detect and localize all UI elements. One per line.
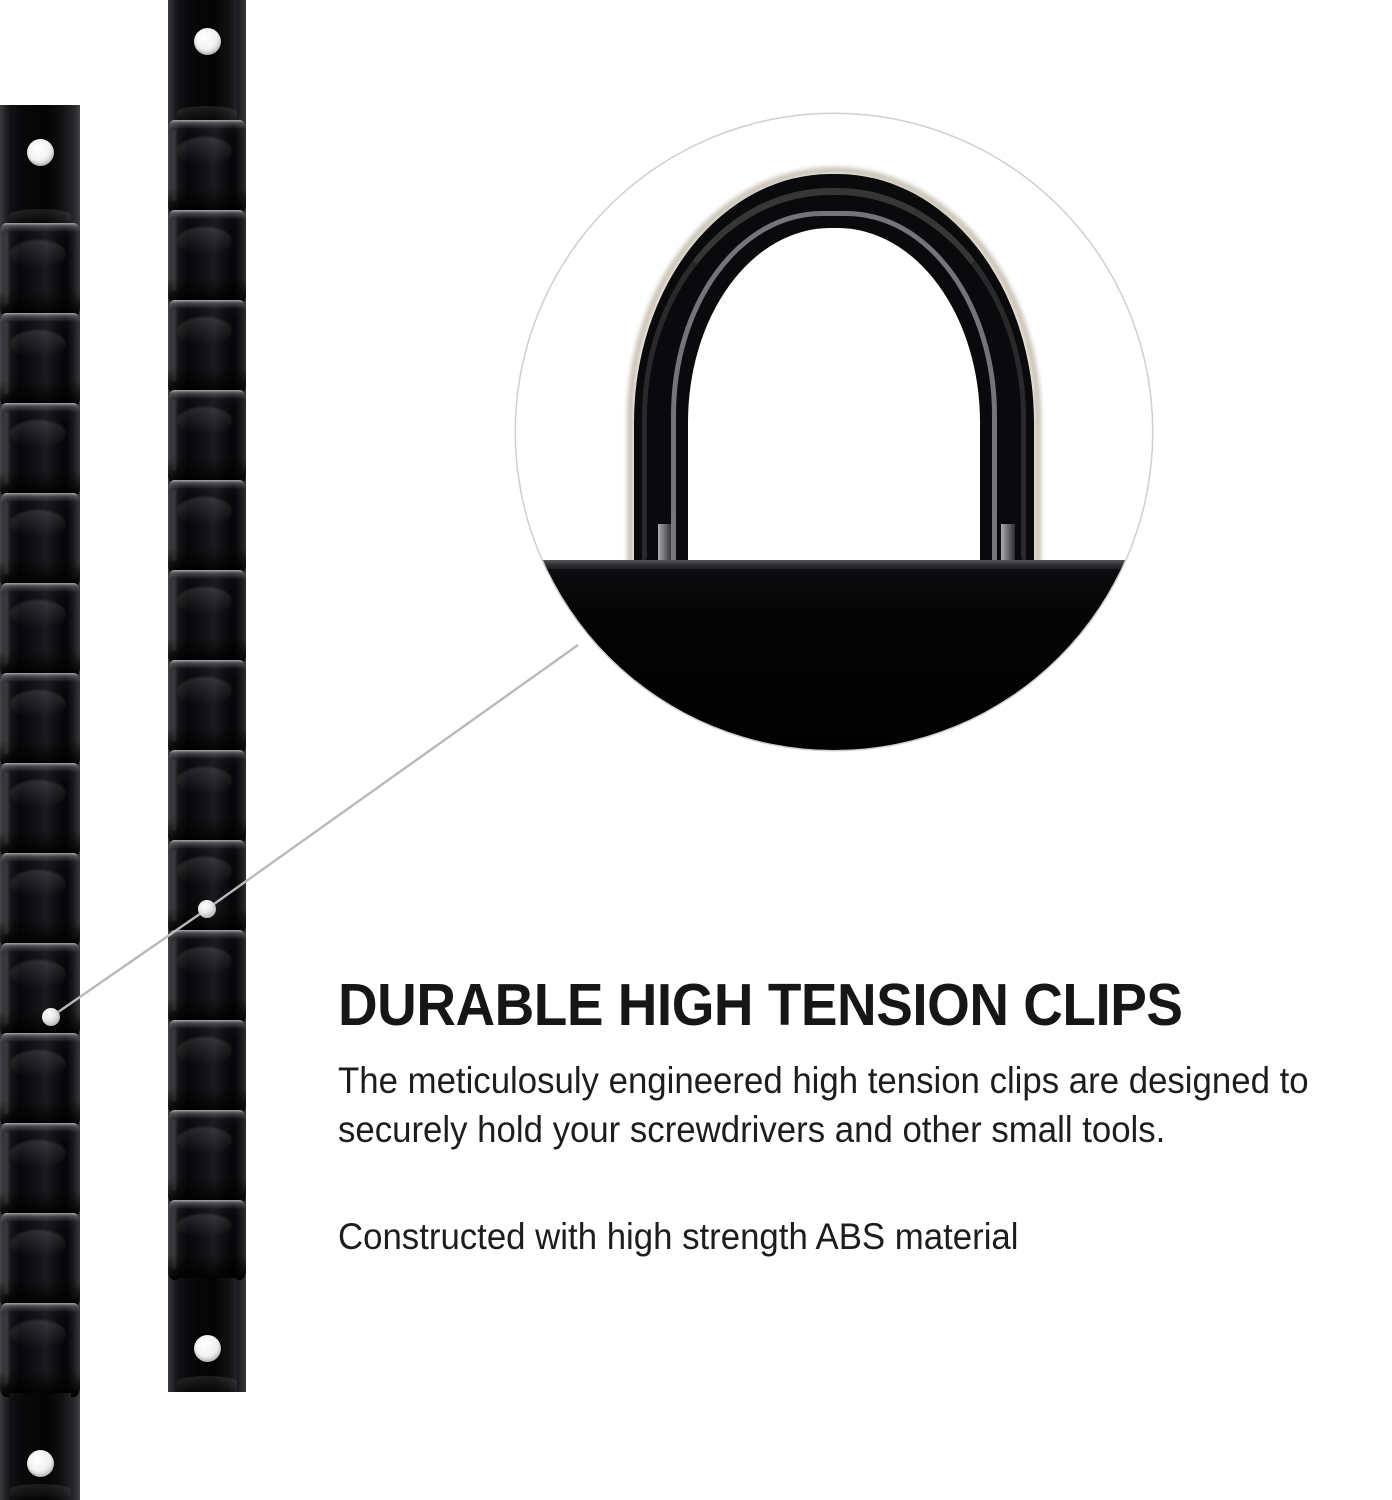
clip-gloss <box>177 947 232 975</box>
clip-edge-gloss <box>173 129 178 200</box>
feature-description: The meticulosuly engineered high tension… <box>338 1057 1377 1155</box>
clip <box>168 1020 246 1114</box>
clip <box>168 300 246 394</box>
clip-edge-gloss <box>5 592 10 663</box>
product-rail-right <box>168 0 246 1392</box>
clip <box>168 660 246 754</box>
clip-edge-gloss <box>5 1042 10 1113</box>
mounting-tab-bottom <box>9 1393 71 1500</box>
clip-edge-gloss <box>5 502 10 573</box>
clip-gloss <box>177 137 232 165</box>
mounting-hole-top <box>194 28 221 55</box>
product-rail-left <box>0 105 80 1500</box>
clip-edge-gloss <box>173 669 178 740</box>
clip <box>168 1200 246 1280</box>
callout-dot-left-rail <box>42 1008 60 1026</box>
clip-gloss <box>177 767 232 795</box>
clip <box>0 763 80 857</box>
clip-edge-gloss <box>5 1222 10 1293</box>
clip-edge-gloss <box>173 1029 178 1100</box>
clip <box>0 313 80 407</box>
clip-gloss <box>177 1037 232 1065</box>
clip <box>0 583 80 677</box>
clip-edge-gloss <box>173 399 178 470</box>
clip <box>168 390 246 484</box>
clip-gloss <box>10 330 66 358</box>
clip-edge-gloss <box>5 952 10 1023</box>
clip-gloss <box>10 1320 66 1348</box>
clip-gloss <box>10 420 66 448</box>
clip-edge-gloss <box>173 489 178 560</box>
clip-edge-gloss <box>173 849 178 920</box>
clip <box>168 570 246 664</box>
mounting-hole-bottom <box>194 1335 221 1362</box>
clip <box>0 673 80 767</box>
clip-gloss <box>177 1214 232 1238</box>
clip-edge-gloss <box>5 232 10 303</box>
clip-edge-gloss <box>5 772 10 843</box>
clip-gloss <box>10 240 66 268</box>
clip-gloss <box>10 600 66 628</box>
callout-dot-right-rail <box>198 900 216 918</box>
clip-gloss <box>177 1127 232 1155</box>
clip-edge-gloss <box>5 1132 10 1203</box>
clip <box>168 1110 246 1204</box>
clip-gloss <box>10 1050 66 1078</box>
clip-edge-gloss <box>5 412 10 483</box>
clip-edge-gloss <box>173 1208 178 1269</box>
rail-base-plate <box>516 569 1152 750</box>
mounting-tab-top <box>177 0 237 122</box>
clip-gloss <box>10 1140 66 1168</box>
clip-edge-gloss <box>173 939 178 1010</box>
mounting-hole-top <box>27 139 54 166</box>
clip <box>168 930 246 1024</box>
clip-gloss <box>10 510 66 538</box>
clip-gloss <box>177 857 232 885</box>
clip-edge-gloss <box>173 309 178 380</box>
clip-gloss <box>177 407 232 435</box>
clip-edge-gloss <box>5 322 10 393</box>
clip <box>0 1213 80 1307</box>
magnifier-contents <box>516 114 1152 750</box>
clip <box>0 853 80 947</box>
mounting-hole-bottom <box>27 1450 54 1477</box>
detail-magnifier <box>516 114 1152 750</box>
clip <box>168 840 246 934</box>
clip <box>168 480 246 574</box>
clip <box>168 750 246 844</box>
clip <box>0 493 80 587</box>
clip-edge-gloss <box>173 219 178 290</box>
clip-edge-gloss <box>5 1312 10 1383</box>
feature-material-note: Constructed with high strength ABS mater… <box>338 1213 1317 1261</box>
clip <box>0 403 80 497</box>
clip-gloss <box>10 870 66 898</box>
clip-gloss <box>177 227 232 255</box>
clip <box>168 120 246 214</box>
clip-edge-gloss <box>173 579 178 650</box>
clip <box>0 1123 80 1217</box>
clip-gloss <box>10 690 66 718</box>
clip-edge-gloss <box>173 1119 178 1190</box>
clip <box>168 210 246 304</box>
clip-gloss <box>10 780 66 808</box>
clip-edge-gloss <box>5 862 10 933</box>
clip-gloss <box>177 677 232 705</box>
page-title: DURABLE HIGH TENSION CLIPS <box>338 975 1307 1035</box>
clip-edge-gloss <box>5 682 10 753</box>
clip-gloss <box>177 587 232 615</box>
clip-gloss <box>177 497 232 525</box>
leader-polyline <box>51 645 578 1017</box>
clip-gloss <box>10 1230 66 1258</box>
clip-gloss <box>177 317 232 345</box>
feature-text-block: DURABLE HIGH TENSION CLIPS The meticulos… <box>338 975 1380 1261</box>
clip-arch-inner-edge <box>671 211 998 575</box>
clip <box>0 1303 80 1397</box>
clip <box>0 223 80 317</box>
clip <box>0 1033 80 1127</box>
clip-edge-gloss <box>173 759 178 830</box>
clip <box>0 943 80 1037</box>
clip-gloss <box>10 960 66 988</box>
